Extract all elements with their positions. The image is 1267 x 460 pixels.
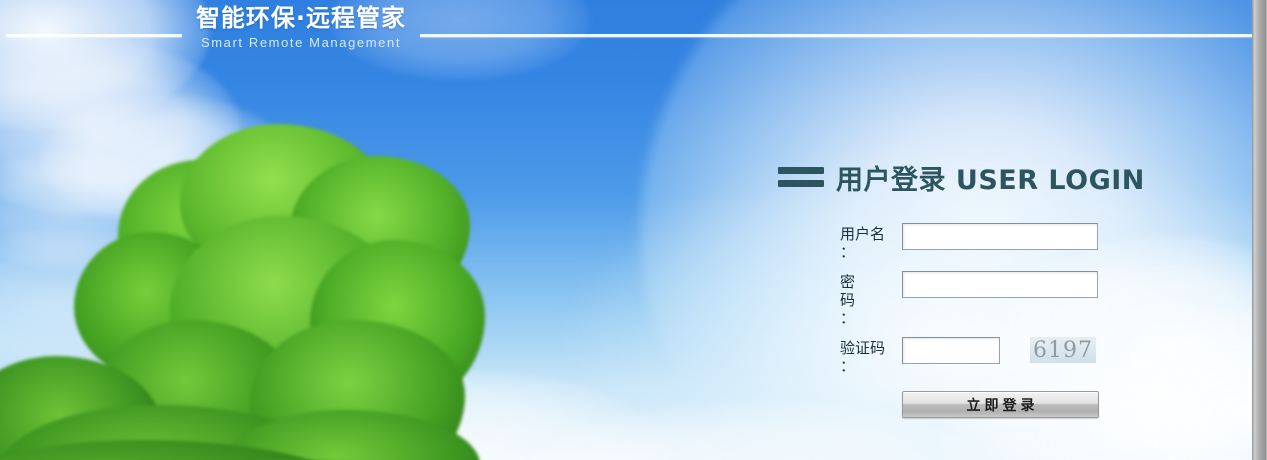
captcha-input[interactable] [902,337,1000,364]
username-row: 用户名 ： [840,223,1158,261]
vertical-scrollbar[interactable] [1252,0,1267,460]
login-panel: 用户登录 USER LOGIN 用户名 ： 密 码 ： 验证码 [778,155,1158,418]
captcha-image[interactable]: 6197 [1030,337,1096,363]
username-label-colon: ： [840,243,902,261]
username-input[interactable] [902,223,1098,250]
password-input[interactable] [902,271,1098,298]
cloud-decoration [0,230,200,380]
password-label-colon: ： [840,309,902,327]
submit-row: 立即登录 [840,391,1158,418]
login-form: 用户名 ： 密 码 ： 验证码 ： 6197 [840,223,1158,418]
scrollbar-thumb[interactable] [1254,0,1266,460]
captcha-row: 验证码 ： 6197 [840,337,1158,375]
two-bars-icon [778,167,824,187]
username-label: 用户名 ： [840,223,902,261]
password-row: 密 码 ： [840,271,1158,327]
brand-title-cn: 智能环保·远程管家 [186,4,416,32]
login-submit-button[interactable]: 立即登录 [902,391,1099,418]
header-rule-left [6,34,182,37]
brand-title-en: Smart Remote Management [186,34,416,52]
page-header: 智能环保·远程管家 Smart Remote Management [0,0,1253,70]
login-page: 智能环保·远程管家 Smart Remote Management 用户登录 U… [0,0,1267,460]
login-title: 用户登录 USER LOGIN [778,155,1158,199]
captcha-label: 验证码 ： [840,337,902,375]
password-label: 密 码 ： [840,271,902,327]
header-rule-right [420,34,1253,37]
captcha-label-colon: ： [840,357,902,375]
brand-block: 智能环保·远程管家 Smart Remote Management [186,4,416,52]
captcha-label-text: 验证码 [840,339,902,357]
username-label-text: 用户名 [840,225,902,243]
login-title-text: 用户登录 USER LOGIN [836,158,1145,197]
password-label-text: 密 码 [840,273,902,309]
